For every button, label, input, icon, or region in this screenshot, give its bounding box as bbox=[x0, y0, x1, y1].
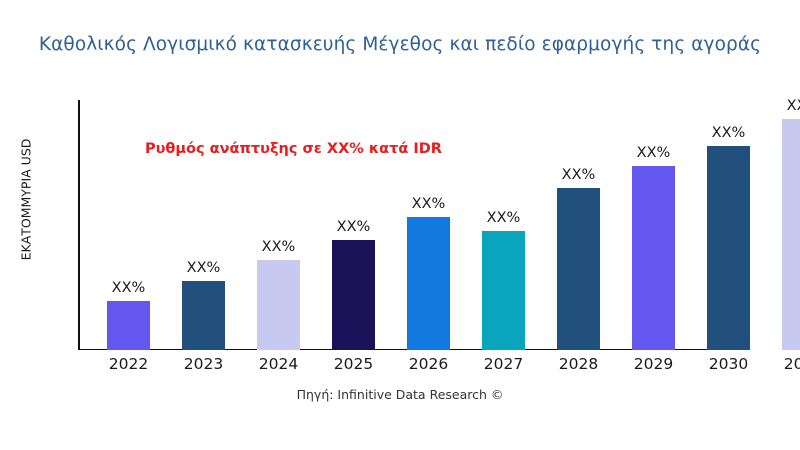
x-tick-label-2025: 2025 bbox=[316, 355, 391, 373]
plot-area: XX%XX%XX%XX%XX%XX%XX%XX%XX%XX% bbox=[78, 100, 730, 350]
bar-2022[interactable] bbox=[107, 301, 150, 350]
bar-value-label-2026: XX% bbox=[391, 196, 466, 212]
bar-value-label-2022: XX% bbox=[91, 280, 166, 296]
bar-2028[interactable] bbox=[557, 188, 600, 350]
x-tick-label-2029: 2029 bbox=[616, 355, 691, 373]
bar-value-label-2030: XX% bbox=[691, 125, 766, 141]
bar-value-label-2023: XX% bbox=[166, 260, 241, 276]
x-tick-label-2028: 2028 bbox=[541, 355, 616, 373]
bar-value-label-2028: XX% bbox=[541, 167, 616, 183]
chart-container: Καθολικός Λογισμικό κατασκευής Μέγεθος κ… bbox=[0, 0, 800, 450]
source-note: Πηγή: Infinitive Data Research © bbox=[0, 387, 800, 402]
bar-2024[interactable] bbox=[257, 260, 300, 350]
bar-2023[interactable] bbox=[182, 281, 225, 350]
x-tick-label-2031: 2031 bbox=[766, 355, 800, 373]
y-axis-label: ΕΚΑΤΟΜΜΥΡΙΑ USD bbox=[19, 90, 34, 310]
bar-2025[interactable] bbox=[332, 240, 375, 350]
bar-value-label-2024: XX% bbox=[241, 239, 316, 255]
x-tick-label-2027: 2027 bbox=[466, 355, 541, 373]
x-tick-label-2030: 2030 bbox=[691, 355, 766, 373]
x-tick-label-2024: 2024 bbox=[241, 355, 316, 373]
x-tick-label-2023: 2023 bbox=[166, 355, 241, 373]
bar-value-label-2031: XX% bbox=[766, 98, 800, 114]
bar-2026[interactable] bbox=[407, 217, 450, 350]
bar-2030[interactable] bbox=[707, 146, 750, 350]
bar-value-label-2025: XX% bbox=[316, 219, 391, 235]
chart-title: Καθολικός Λογισμικό κατασκευής Μέγεθος κ… bbox=[0, 34, 800, 55]
bar-value-label-2029: XX% bbox=[616, 145, 691, 161]
bar-2027[interactable] bbox=[482, 231, 525, 350]
x-tick-label-2026: 2026 bbox=[391, 355, 466, 373]
bar-2029[interactable] bbox=[632, 166, 675, 350]
bar-2031[interactable] bbox=[782, 119, 800, 350]
bar-value-label-2027: XX% bbox=[466, 210, 541, 226]
x-tick-label-2022: 2022 bbox=[91, 355, 166, 373]
